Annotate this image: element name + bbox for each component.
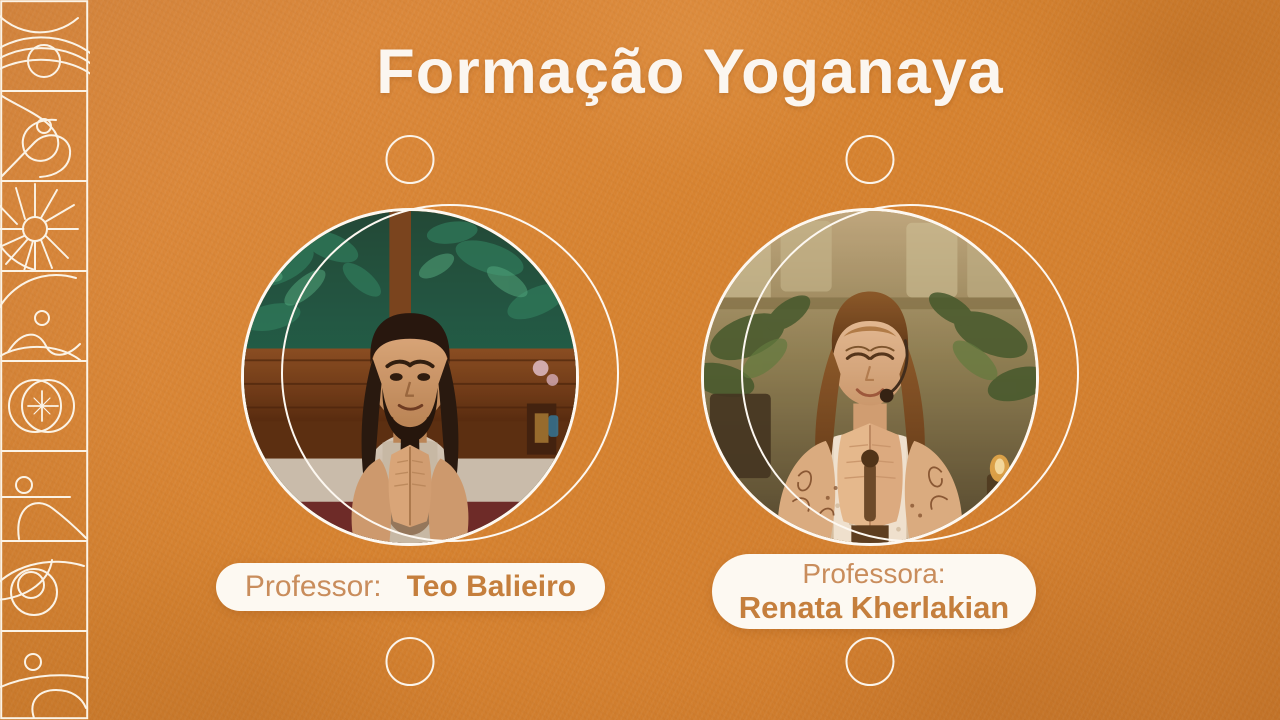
circle-and-wave-motif xyxy=(0,654,88,718)
person-name-text: Teo Balieiro xyxy=(407,570,576,603)
page-title: Formação Yoganaya xyxy=(130,34,1250,110)
avatar-renata-kherlakian xyxy=(701,208,1039,546)
arc-with-small-circle-motif xyxy=(0,275,80,360)
role-text: Professor: xyxy=(245,570,382,603)
role-text: Professora: xyxy=(802,558,945,589)
avatar-photo xyxy=(701,208,1039,546)
concentric-eye-motif xyxy=(0,560,84,615)
name-label-line: Professor: Teo Balieiro xyxy=(245,570,576,604)
small-circle-outline-icon xyxy=(386,637,435,686)
name-label-teo-balieiro: Professor: Teo Balieiro xyxy=(216,563,605,611)
small-circle-outline-icon xyxy=(386,135,435,184)
avatar-photo xyxy=(241,208,579,546)
decorative-line-art-panel xyxy=(0,0,90,720)
photo-illustration-renata xyxy=(704,211,1036,543)
sunburst-motif xyxy=(0,184,78,271)
small-circle-outline-icon xyxy=(846,135,895,184)
avatar-teo-balieiro xyxy=(241,208,579,546)
eye-arc-motif xyxy=(0,4,90,78)
teardrop-loop-motif xyxy=(2,96,70,177)
small-circle-outline-icon xyxy=(846,637,895,686)
name-label-line: Professora: xyxy=(802,558,945,590)
vesica-star-motif xyxy=(9,380,74,432)
name-label-renata-kherlakian: Professora: Renata Kherlakian xyxy=(712,554,1036,629)
slide-root: Formação Yoganaya xyxy=(0,0,1280,720)
small-circle-and-curve-motif xyxy=(1,477,86,539)
person-name-text: Renata Kherlakian xyxy=(739,590,1010,625)
name-label-line: Renata Kherlakian xyxy=(739,590,1010,625)
photo-illustration-teo xyxy=(244,211,576,543)
